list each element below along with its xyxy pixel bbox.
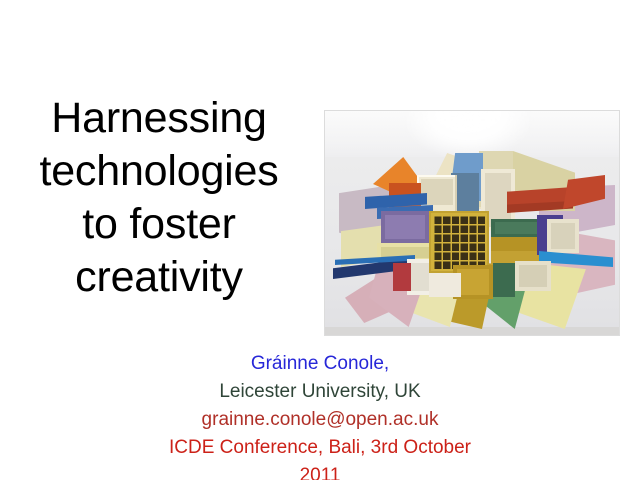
grid-cells bbox=[433, 215, 485, 269]
slide-subtitle: Gráinne Conole, Leicester University, UK… bbox=[0, 350, 640, 480]
shelf-olive-right-upper bbox=[491, 237, 543, 251]
presentation-slide: Harnessing technologies to foster creati… bbox=[0, 0, 640, 480]
slide-title: Harnessing technologies to foster creati… bbox=[4, 92, 314, 304]
shelf-cream-center-lower bbox=[429, 273, 461, 297]
title-line-4: creativity bbox=[4, 251, 314, 304]
box-cream-far-right-inner bbox=[551, 223, 575, 249]
title-line-3: to foster bbox=[4, 198, 314, 251]
subtitle-event: ICDE Conference, Bali, 3rd October bbox=[0, 434, 640, 462]
title-line-2: technologies bbox=[4, 145, 314, 198]
subtitle-author: Gráinne Conole, bbox=[0, 350, 640, 378]
subtitle-affiliation: Leicester University, UK bbox=[0, 378, 640, 406]
box-red-bottom-left bbox=[393, 263, 411, 291]
slide-image-frame bbox=[324, 110, 620, 336]
box-cream-bottom-right-inner bbox=[519, 265, 547, 287]
box-forestgreen-bottom bbox=[493, 263, 515, 297]
shelf-forestgreen-right-inner bbox=[495, 222, 539, 234]
gallery-floor bbox=[325, 327, 619, 335]
subtitle-email: grainne.conole@open.ac.uk bbox=[0, 406, 640, 434]
title-line-1: Harnessing bbox=[4, 92, 314, 145]
box-purple-left-inner bbox=[385, 215, 425, 239]
subtitle-year: 2011 bbox=[0, 462, 640, 480]
shelving-installation-photo bbox=[325, 111, 619, 335]
box-olive-bottom-center-inner bbox=[457, 269, 489, 295]
